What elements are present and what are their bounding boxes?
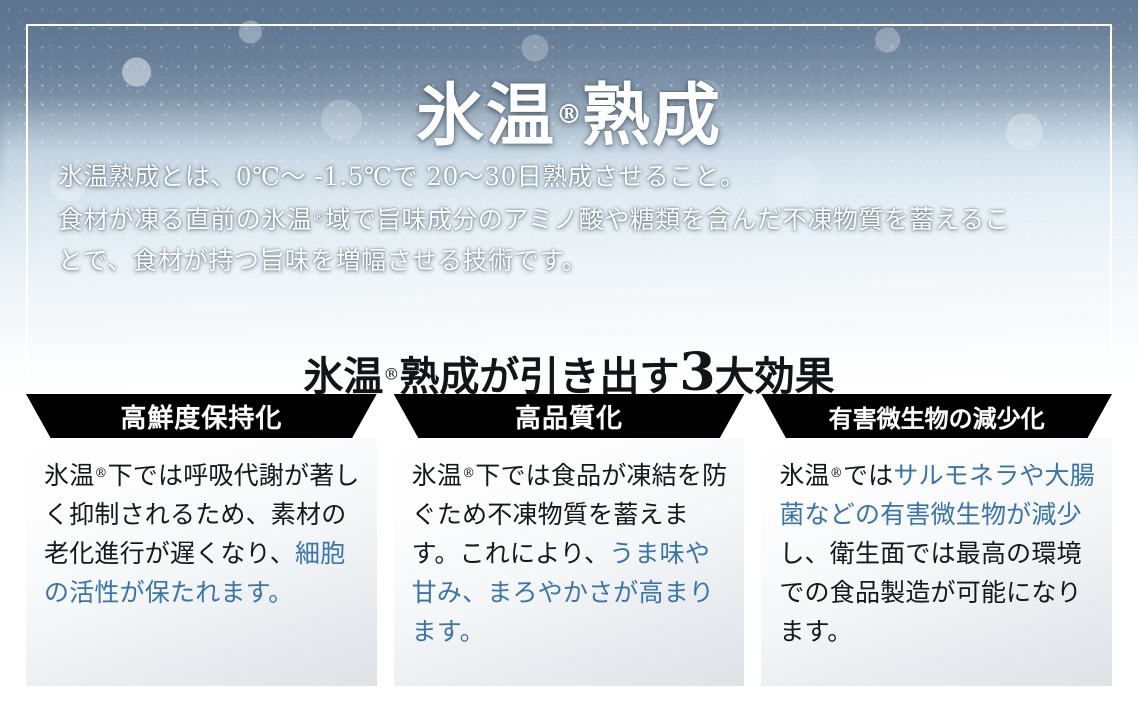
registered-trademark-icon: ®	[312, 210, 325, 225]
effect-card-microbes: 有害微生物の減少化 氷温®ではサルモネラや大腸菌などの有害微生物が減少し、衛生面…	[761, 394, 1112, 686]
registered-trademark-icon: ®	[556, 99, 582, 129]
effect-card-freshness: 高鮮度保持化 氷温®下では呼吸代謝が著しく抑制されるため、素材の老化進行が遅くな…	[26, 394, 377, 686]
poster-stage: 氷温®熟成 氷温熟成とは、0℃〜 -1.5℃で 20〜30日熟成させること。 食…	[0, 0, 1138, 708]
registered-trademark-icon: ®	[94, 466, 107, 481]
card-body-quality: 氷温®下では食品が凍結を防ぐため不凍物質を蓄えます。これにより、うま味や甘み、ま…	[394, 438, 745, 686]
lead-line-3: とで、食材が持つ旨味を増幅させる技術です。	[58, 240, 1088, 281]
page-title-main: 氷温	[416, 76, 556, 156]
lead-line-2-part-a: 食材が凍る直前の氷温	[58, 205, 312, 234]
card-body-freshness: 氷温®下では呼吸代謝が著しく抑制されるため、素材の老化進行が遅くなり、細胞の活性…	[26, 438, 377, 686]
page-title-tail: 熟成	[582, 76, 722, 156]
registered-trademark-icon: ®	[462, 466, 475, 481]
effect-card-quality: 高品質化 氷温®下では食品が凍結を防ぐため不凍物質を蓄えます。これにより、うま味…	[394, 394, 745, 686]
page-title: 氷温®熟成	[0, 82, 1138, 150]
card-body-prefix: 氷温	[412, 461, 462, 490]
card-body-prefix: 氷温	[779, 461, 829, 490]
effects-card-row: 高鮮度保持化 氷温®下では呼吸代謝が著しく抑制されるため、素材の老化進行が遅くな…	[26, 394, 1112, 686]
registered-trademark-icon: ®	[830, 466, 843, 481]
card-body-prefix: 氷温	[44, 461, 94, 490]
card-banner-quality: 高品質化	[394, 394, 745, 438]
card-banner-microbes: 有害微生物の減少化	[761, 394, 1112, 438]
lead-line-2-part-b: 域で旨味成分のアミノ酸や糖類を含んだ不凍物質を蓄えるこ	[325, 205, 1010, 234]
card-banner-freshness: 高鮮度保持化	[26, 394, 377, 438]
lead-line-1: 氷温熟成とは、0℃〜 -1.5℃で 20〜30日熟成させること。	[58, 156, 1088, 197]
card-body-text-black: では	[843, 461, 893, 490]
lead-line-2: 食材が凍る直前の氷温®域で旨味成分のアミノ酸や糖類を含んだ不凍物質を蓄えるこ	[58, 197, 1088, 240]
card-body-text-black-tail: し、衛生面では最高の環境での食品製造が可能になります。	[779, 539, 1081, 646]
registered-trademark-icon: ®	[383, 365, 399, 384]
card-body-microbes: 氷温®ではサルモネラや大腸菌などの有害微生物が減少し、衛生面では最高の環境での食…	[761, 438, 1112, 686]
lead-paragraph: 氷温熟成とは、0℃〜 -1.5℃で 20〜30日熟成させること。 食材が凍る直前…	[58, 156, 1088, 281]
